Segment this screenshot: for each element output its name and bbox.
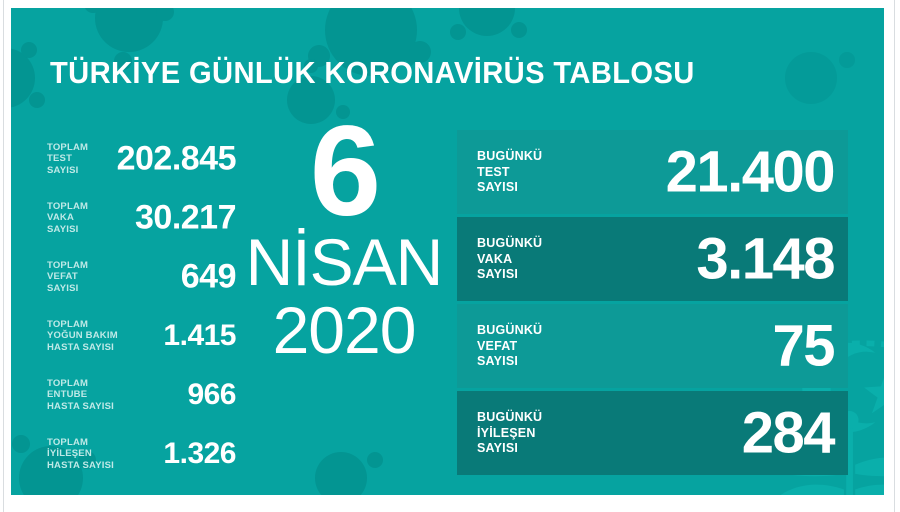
stat-value: 966 [187,378,236,412]
card-label: BUGÜNKÜ İYİLEŞEN SAYISI [477,410,542,457]
page-title: TÜRKİYE GÜNLÜK KORONAVİRÜS TABLOSU [50,55,695,91]
card-label-line: SAYISI [477,267,542,283]
stat-label-line: HASTA SAYISI [47,341,118,353]
stat-label-line: İYİLEŞEN [47,448,114,460]
stat-label: TOPLAM ENTUBE HASTA SAYISI [47,377,114,412]
date-month: NİSAN [239,229,449,295]
left-margin-rule [3,0,4,512]
stat-row-toplam-vefat: TOPLAM VEFAT SAYISI 649 [36,248,236,305]
right-margin-rule [894,0,895,512]
card-bugunku-vaka: BUGÜNKÜ VAKA SAYISI 3.148 [457,217,848,301]
stat-label-line: SAYISI [47,282,88,294]
stat-label-line: TEST [47,153,88,165]
card-label-line: BUGÜNKÜ [477,323,542,339]
card-label-line: TEST [477,164,542,180]
stat-label: TOPLAM VAKA SAYISI [47,200,88,235]
card-value: 3.148 [696,226,834,293]
card-bugunku-iyilesen: BUGÜNKÜ İYİLEŞEN SAYISI 284 [457,391,848,475]
date-year: 2020 [239,297,449,363]
stat-row-toplam-yogun-bakim: TOPLAM YOĞUN BAKIM HASTA SAYISI 1.415 [36,307,236,364]
stat-label-line: TOPLAM [47,377,114,389]
stat-label-line: SAYISI [47,164,88,176]
card-label-line: SAYISI [477,441,542,457]
stat-value: 30.217 [135,198,236,237]
stat-label-line: ENTUBE [47,389,114,401]
card-bugunku-test: BUGÜNKÜ TEST SAYISI 21.400 [457,130,848,214]
stat-label-line: TOPLAM [47,141,88,153]
card-label-line: BUGÜNKÜ [477,410,542,426]
stat-row-toplam-iyilesen: TOPLAM İYİLEŞEN HASTA SAYISI 1.326 [36,425,236,482]
stat-value: 649 [181,257,236,296]
card-label-line: VEFAT [477,338,542,354]
page-frame: TÜRKİYE GÜNLÜK KORONAVİRÜS TABLOSU TOPLA… [0,0,900,512]
card-label-line: SAYISI [477,354,542,370]
stat-label: TOPLAM İYİLEŞEN HASTA SAYISI [47,436,114,471]
card-label-line: BUGÜNKÜ [477,149,542,165]
daily-stats-column: BUGÜNKÜ TEST SAYISI 21.400 BUGÜNKÜ VAKA … [457,130,848,478]
card-label-line: BUGÜNKÜ [477,236,542,252]
stat-label-line: VAKA [47,212,88,224]
card-label: BUGÜNKÜ VAKA SAYISI [477,236,542,283]
stat-label-line: VEFAT [47,271,88,283]
stat-value: 202.845 [117,139,236,178]
stat-label-line: HASTA SAYISI [47,459,114,471]
cumulative-stats-column: TOPLAM TEST SAYISI 202.845 TOPLAM VAKA S… [36,130,236,484]
stat-row-toplam-test: TOPLAM TEST SAYISI 202.845 [36,130,236,187]
card-bugunku-vefat: BUGÜNKÜ VEFAT SAYISI 75 [457,304,848,388]
stat-label-line: YOĞUN BAKIM [47,330,118,342]
stat-label: TOPLAM VEFAT SAYISI [47,259,88,294]
stat-label-line: SAYISI [47,223,88,235]
stat-label: TOPLAM TEST SAYISI [47,141,88,176]
report-date: 6 NİSAN 2020 [239,120,449,363]
stat-value: 1.326 [163,437,236,471]
stat-value: 1.415 [163,319,236,353]
date-day: 6 [239,120,449,224]
stat-label-line: TOPLAM [47,259,88,271]
stat-row-toplam-vaka: TOPLAM VAKA SAYISI 30.217 [36,189,236,246]
card-label: BUGÜNKÜ VEFAT SAYISI [477,323,542,370]
stat-label-line: TOPLAM [47,436,114,448]
card-value: 21.400 [666,139,834,206]
card-label-line: İYİLEŞEN [477,425,542,441]
stat-label-line: TOPLAM [47,200,88,212]
stat-label: TOPLAM YOĞUN BAKIM HASTA SAYISI [47,318,118,353]
card-label: BUGÜNKÜ TEST SAYISI [477,149,542,196]
stat-label-line: TOPLAM [47,318,118,330]
card-value: 284 [742,400,834,467]
stat-label-line: HASTA SAYISI [47,400,114,412]
card-label-line: VAKA [477,251,542,267]
daily-coronavirus-table-poster: TÜRKİYE GÜNLÜK KORONAVİRÜS TABLOSU TOPLA… [11,8,884,495]
card-value: 75 [772,313,834,380]
card-label-line: SAYISI [477,180,542,196]
stat-row-toplam-entube: TOPLAM ENTUBE HASTA SAYISI 966 [36,366,236,423]
